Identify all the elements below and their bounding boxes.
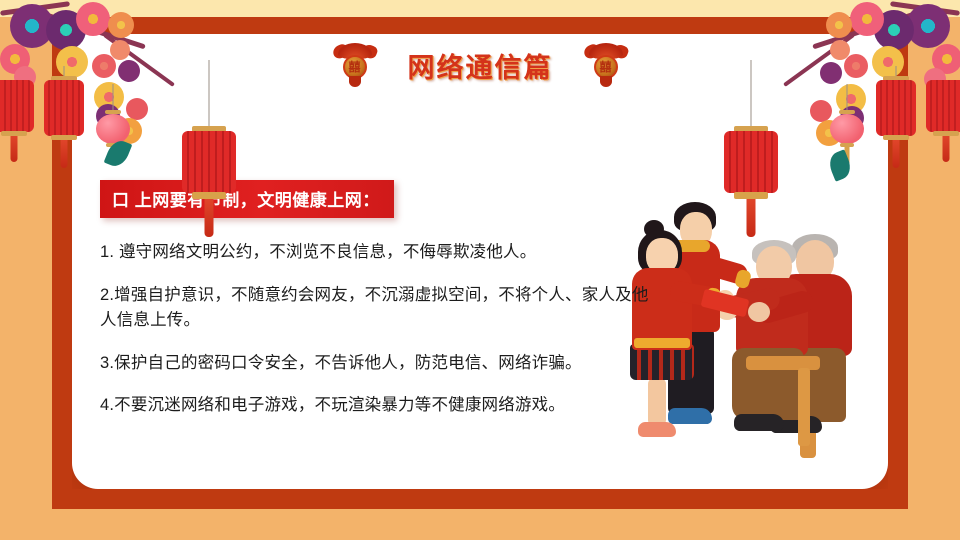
points-list: 1. 遵守网络文明公约，不浏览不良信息，不侮辱欺凌他人。 2.增强自护意识，不随…: [100, 240, 660, 419]
grandfather-hand: [748, 302, 770, 322]
plum-blossom-icon: [810, 100, 832, 122]
list-item: 1. 遵守网络文明公约，不浏览不良信息，不侮辱欺凌他人。: [100, 240, 660, 266]
list-item: 4.不要沉迷网络和电子游戏，不玩渲染暴力等不健康网络游戏。: [100, 393, 660, 419]
red-lantern-icon: [0, 70, 34, 190]
page-title: 网络通信篇: [408, 46, 553, 85]
decor-top-right: [660, 0, 960, 210]
plum-blossom-icon: [820, 62, 842, 84]
pink-lantern-icon: [830, 84, 864, 204]
slide-root: 囍 网络通信篇 囍 口 上网要有节制，文明健康上网： 1. 遵守网络文明公约，不…: [0, 0, 960, 540]
plum-blossom-icon: [844, 54, 868, 78]
plum-blossom-icon: [110, 40, 130, 60]
red-lantern-icon: [44, 66, 84, 196]
red-lantern-icon: [182, 60, 236, 240]
grandmother-shoe: [734, 414, 784, 431]
frame-band-bottom: [52, 489, 908, 509]
boy-shoe: [668, 408, 712, 424]
list-item: 3.保护自己的密码口令安全，不告诉他人，防范电信、网络诈骗。: [100, 351, 660, 377]
list-item: 2.增强自护意识，不随意约会网友，不沉溺虚拟空间，不将个人、家人及他人信息上传。: [100, 283, 660, 334]
plum-blossom-icon: [830, 40, 850, 60]
red-lantern-icon: [724, 60, 778, 240]
decor-top-left: [0, 0, 300, 200]
chinese-knot-icon-right: 囍: [587, 43, 625, 87]
plum-blossom-icon: [826, 12, 852, 38]
plum-blossom-icon: [118, 60, 140, 82]
chinese-knot-icon-left: 囍: [336, 43, 374, 87]
plum-blossom-icon: [850, 2, 884, 36]
chair-leg: [798, 368, 810, 446]
red-lantern-icon: [876, 66, 916, 196]
plum-blossom-icon: [76, 2, 110, 36]
red-lantern-icon: [926, 70, 960, 190]
plum-blossom-icon: [108, 12, 134, 38]
plum-blossom-icon: [92, 54, 116, 78]
